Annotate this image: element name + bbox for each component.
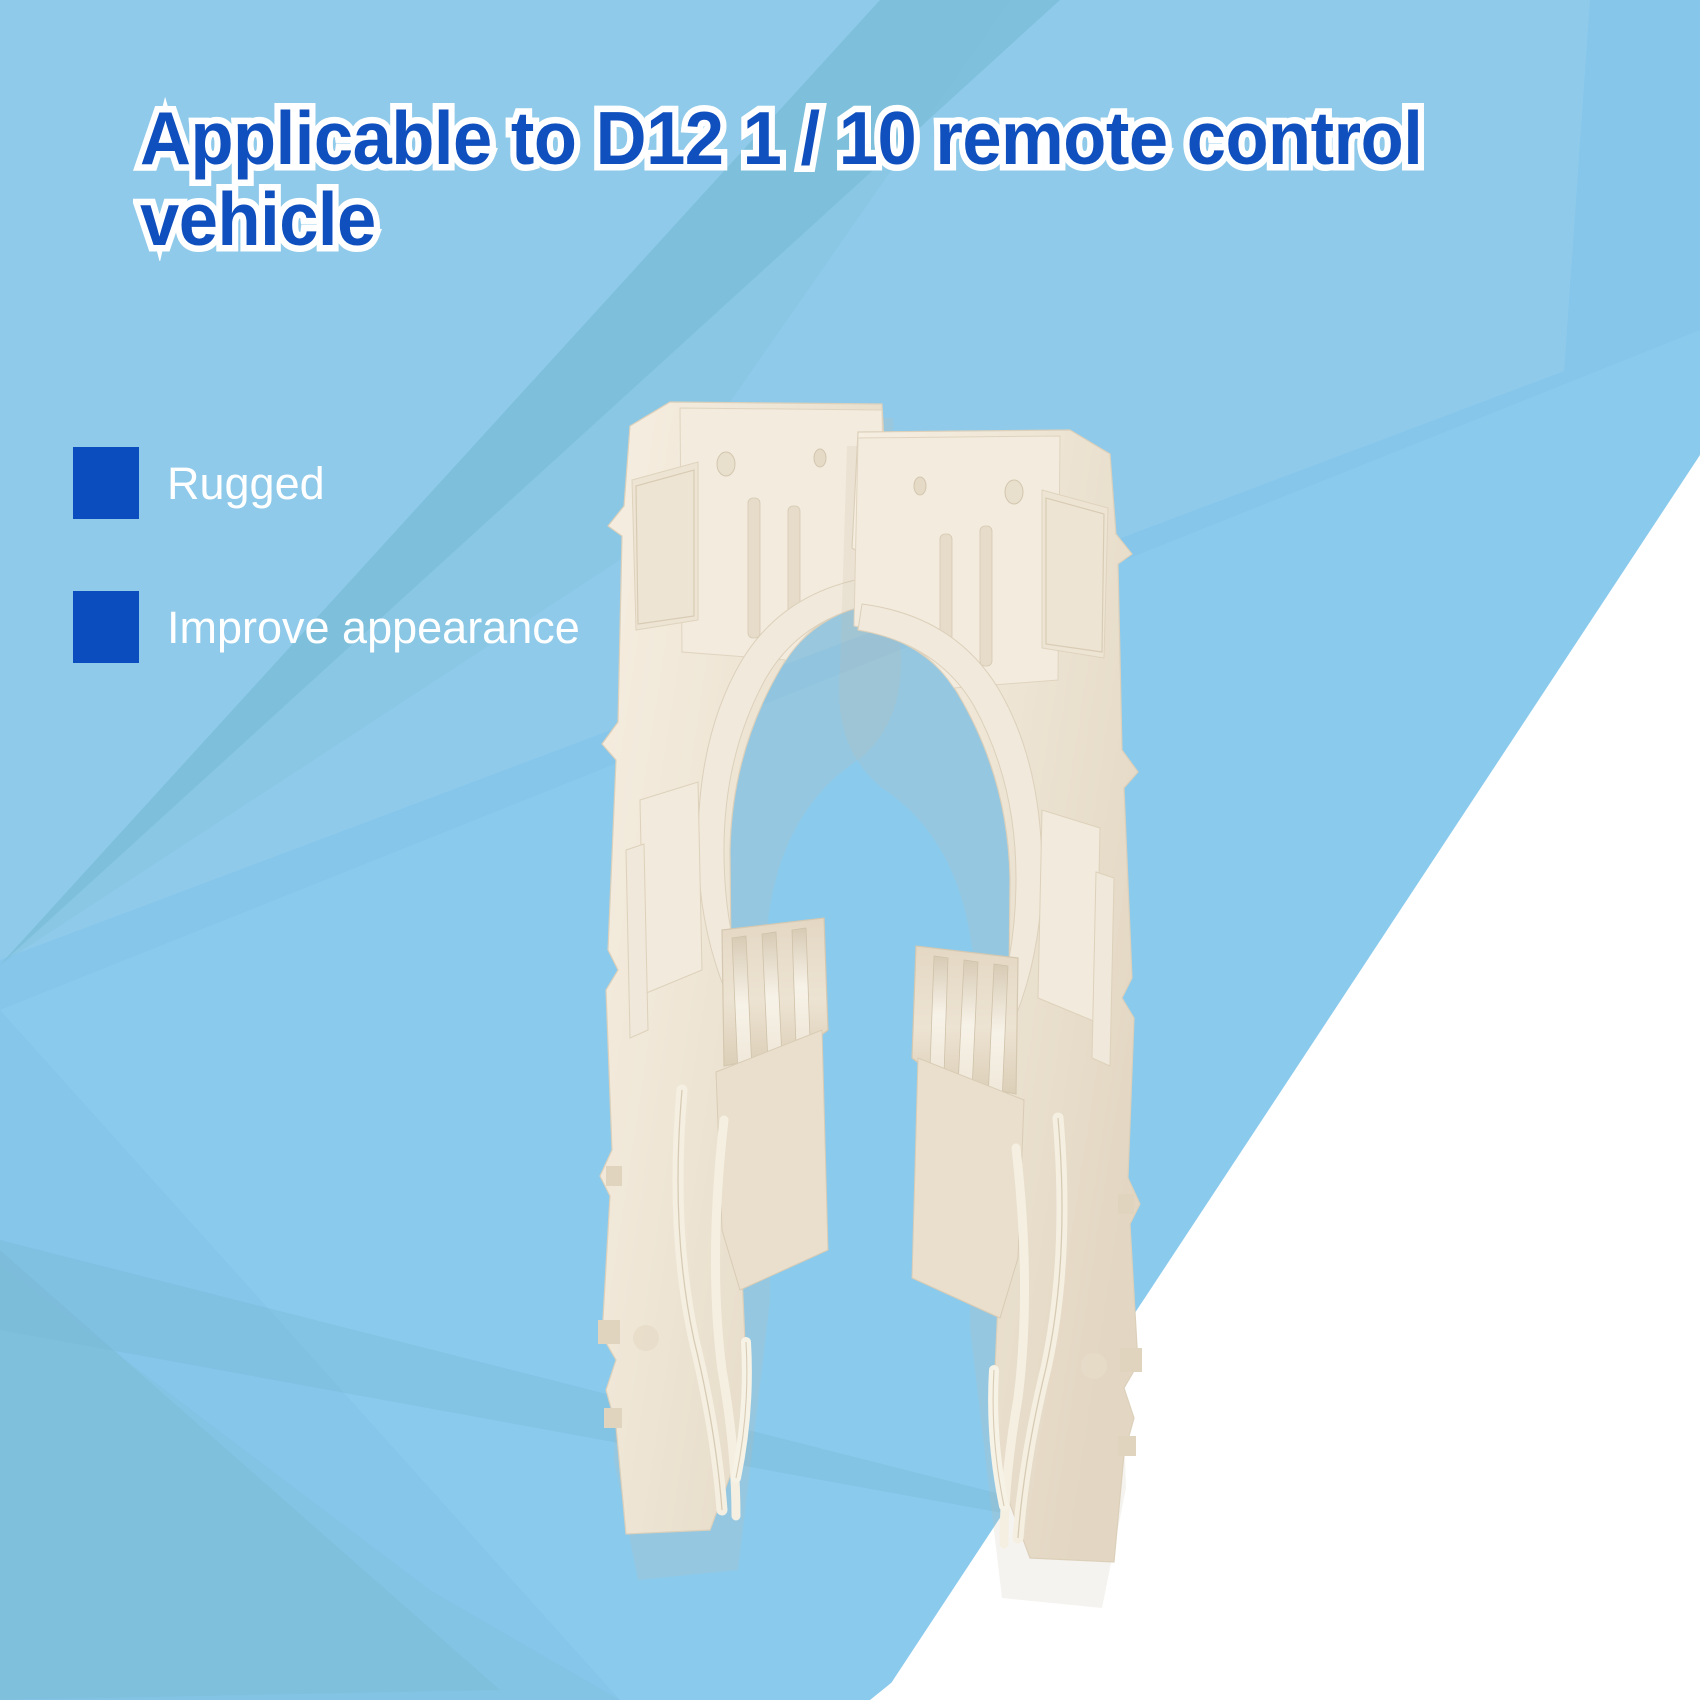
left-screw-boss-2 (814, 449, 826, 467)
square-swatch-icon (73, 447, 139, 519)
right-screw-dimple (1081, 1353, 1107, 1379)
product-image (430, 330, 1250, 1630)
left-lower-face (716, 1030, 828, 1290)
product-promo-image: Applicable to D12 1 / 10 remote control … (0, 0, 1700, 1700)
right-rib-1 (980, 526, 992, 666)
right-screw-boss-2 (914, 477, 926, 495)
square-swatch-icon (73, 591, 139, 663)
right-screw-boss-1 (1005, 480, 1023, 504)
right-groove-long-2 (1092, 872, 1114, 1066)
right-groove-long-1 (1038, 810, 1100, 1022)
left-groove-long-1 (640, 782, 702, 994)
feature-label: Rugged (167, 461, 325, 506)
left-screw-dimple (633, 1325, 659, 1351)
page-title: Applicable to D12 1 / 10 remote control … (140, 98, 1475, 260)
left-groove-long-2 (626, 844, 648, 1038)
right-side-panel (839, 430, 1142, 1608)
right-upper-inset (1042, 490, 1108, 658)
right-lower-face (912, 1058, 1024, 1318)
left-rib-1 (748, 498, 760, 638)
left-screw-boss-1 (717, 452, 735, 476)
left-upper-inset (632, 462, 698, 630)
